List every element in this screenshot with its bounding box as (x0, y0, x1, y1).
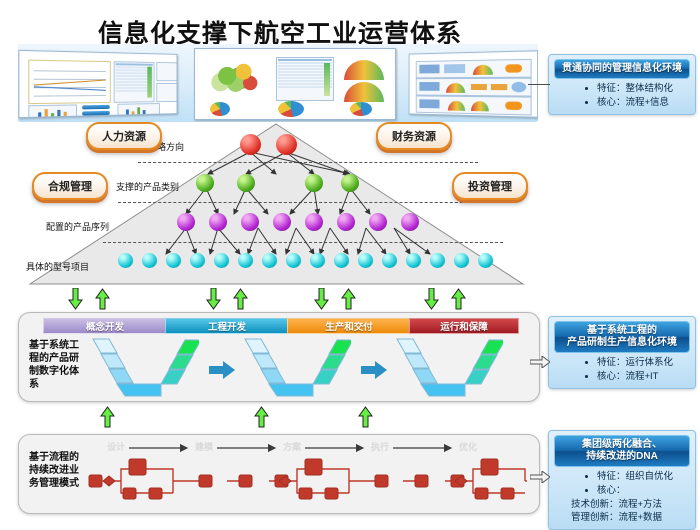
pyramid-node-red-2[interactable] (276, 134, 297, 155)
pyramid-node-cyan-15[interactable] (454, 253, 469, 268)
mini-table (114, 61, 155, 103)
callout-group-dna-subitems: 技术创新：流程+方法 管理创新：流程+数据 (557, 498, 689, 524)
pyramid-node-cyan-13[interactable] (406, 253, 421, 268)
v-model-connector-arrow-1 (209, 361, 235, 379)
process-flow-diagram (87, 455, 527, 507)
pyramid-node-green-2[interactable] (237, 174, 255, 192)
pyramid-node-cyan-14[interactable] (430, 253, 445, 268)
callout-leader-arrow-3 (530, 470, 544, 481)
callout-management-env-bullets: 特征：整体结构化 核心：流程+信息 (557, 82, 689, 109)
callout-bullet: 核心：流程+IT (597, 370, 689, 383)
pyramid-node-cyan-2[interactable] (142, 253, 157, 268)
callout-title-line: 集团级两化融合、 (557, 439, 687, 451)
callout-title-line: 持续改进的DNA (557, 451, 687, 463)
green-arrow-up-5 (100, 406, 115, 428)
pyramid-node-cyan-10[interactable] (334, 253, 349, 268)
pyramid-node-red-1[interactable] (240, 134, 261, 155)
v-model-shape-1 (89, 337, 199, 397)
pyramid-node-cyan-4[interactable] (190, 253, 205, 268)
v-model-side-label: 基于系统工程的产品研制数字化体系 (29, 339, 81, 391)
gauge-chart-1 (344, 60, 384, 80)
dashboard-screen-center[interactable] (194, 48, 396, 120)
callout-management-env[interactable]: 贯通协同的管理信息化环境 特征：整体结构化 核心：流程+信息 (548, 54, 696, 115)
phase-operation-support[interactable]: 运行和保障 (409, 318, 519, 334)
phase-production-delivery[interactable]: 生产和交付 (287, 318, 411, 334)
pill-investment-management[interactable]: 投资管理 (452, 172, 528, 200)
callout-product-env[interactable]: 基于系统工程的 产品研制生产信息化环境 特征：运行体系化 核心：流程+IT (548, 316, 696, 389)
pyramid-node-cyan-5[interactable] (214, 253, 229, 268)
pyramid-node-cyan-7[interactable] (262, 253, 277, 268)
mini-trend-chart (28, 60, 111, 105)
pyramid-node-purple-4[interactable] (273, 213, 291, 231)
pill-financial-resources[interactable]: 财务资源 (376, 122, 452, 150)
process-improvement-panel: 基于流程的持续改进业务管理模式 设计 建模 方案 执行 优化 (18, 434, 540, 514)
mini-bar-chart-1 (28, 104, 77, 118)
phase-concept-development[interactable]: 概念开发 (43, 318, 167, 334)
pill-human-resources[interactable]: 人力资源 (86, 122, 162, 150)
pyramid-node-purple-8[interactable] (401, 213, 419, 231)
callout-group-dna[interactable]: 集团级两化融合、 持续改进的DNA 特征：组织自优化 核心： 技术创新：流程+方… (548, 430, 696, 530)
v-model-panel: 概念开发 工程开发 生产和交付 运行和保障 基于系统工程的产品研制数字化体系 (18, 312, 540, 402)
mini-progress-2 (82, 111, 110, 116)
callout-title-line: 产品研制生产信息化环境 (557, 337, 687, 349)
callout-product-env-title: 基于系统工程的 产品研制生产信息化环境 (554, 321, 690, 353)
callout-group-dna-title: 集团级两化融合、 持续改进的DNA (554, 435, 690, 467)
process-side-label: 基于流程的持续改进业务管理模式 (29, 451, 81, 490)
green-arrow-down-3 (314, 288, 329, 310)
process-step-label-0: 设计 (107, 440, 125, 453)
green-arrow-down-2 (206, 288, 221, 310)
dashboard-screens-band (18, 44, 538, 122)
pyramid-node-green-3[interactable] (305, 174, 323, 192)
mini-table-center (276, 57, 334, 101)
pyramid-node-cyan-1[interactable] (118, 253, 133, 268)
dashboard-screen-right[interactable] (409, 50, 538, 118)
callout-bullet: 特征：组织自优化 (597, 470, 689, 483)
kpi-row-3 (416, 95, 532, 115)
pyramid-node-purple-5[interactable] (305, 213, 323, 231)
callout-bullet: 核心：流程+信息 (597, 96, 689, 109)
pyramid-node-purple-7[interactable] (369, 213, 387, 231)
green-arrow-up-6 (254, 406, 269, 428)
mini-kpi-card-1 (156, 62, 177, 81)
callout-leader-arrow-2 (530, 355, 544, 366)
pie-chart-1 (210, 102, 230, 116)
callout-bullet: 特征：运行体系化 (597, 356, 689, 369)
green-arrow-down-4 (424, 288, 439, 310)
pyramid-node-purple-1[interactable] (177, 213, 195, 231)
kpi-row-2 (416, 78, 532, 97)
pill-compliance-management[interactable]: 合规管理 (32, 172, 108, 200)
pyramid-node-cyan-9[interactable] (310, 253, 325, 268)
callout-management-env-title: 贯通协同的管理信息化环境 (554, 59, 690, 79)
callout-bullet: 特征：整体结构化 (597, 82, 689, 95)
pyramid-node-green-1[interactable] (196, 174, 214, 192)
callout-product-env-bullets: 特征：运行体系化 核心：流程+IT (557, 356, 689, 383)
callout-title-line: 基于系统工程的 (557, 325, 687, 337)
pyramid-node-cyan-16[interactable] (478, 253, 493, 268)
gauge-chart-2 (344, 82, 384, 102)
pyramid-node-purple-3[interactable] (241, 213, 259, 231)
callout-leader-line-1 (528, 84, 550, 85)
green-arrow-up-4 (451, 288, 466, 310)
callout-group-dna-bullets: 特征：组织自优化 核心： (557, 470, 689, 497)
callout-bullet: 核心： (597, 484, 689, 497)
pie-chart-2 (278, 101, 304, 117)
green-arrow-up-3 (341, 288, 356, 310)
pie-chart-3 (350, 102, 372, 116)
china-map-chart (204, 57, 270, 99)
dashboard-screen-left[interactable] (18, 50, 177, 118)
callout-subitem: 管理创新：流程+数据 (571, 511, 689, 524)
pyramid-node-cyan-12[interactable] (382, 253, 397, 268)
v-model-shape-3 (393, 337, 503, 397)
pyramid-node-cyan-8[interactable] (286, 253, 301, 268)
pyramid-node-cyan-3[interactable] (166, 253, 181, 268)
mini-progress-1 (82, 105, 110, 110)
pyramid-node-cyan-11[interactable] (358, 253, 373, 268)
mini-bar-chart-2 (117, 103, 159, 118)
pyramid-node-cyan-6[interactable] (238, 253, 253, 268)
pyramid-node-purple-6[interactable] (337, 213, 355, 231)
process-step-arrows (129, 442, 469, 454)
kpi-row-1 (416, 59, 532, 78)
callout-subitem: 技术创新：流程+方法 (571, 498, 689, 511)
v-model-connector-arrow-2 (361, 361, 387, 379)
green-arrow-down-1 (68, 288, 83, 310)
v-model-shape-2 (241, 337, 351, 397)
pyramid-node-green-4[interactable] (341, 174, 359, 192)
green-arrow-up-7 (358, 406, 373, 428)
green-arrow-up-1 (95, 288, 110, 310)
mini-kpi-card-2 (156, 83, 177, 102)
phase-engineering-development[interactable]: 工程开发 (165, 318, 289, 334)
green-arrow-up-2 (233, 288, 248, 310)
pyramid-node-purple-2[interactable] (209, 213, 227, 231)
